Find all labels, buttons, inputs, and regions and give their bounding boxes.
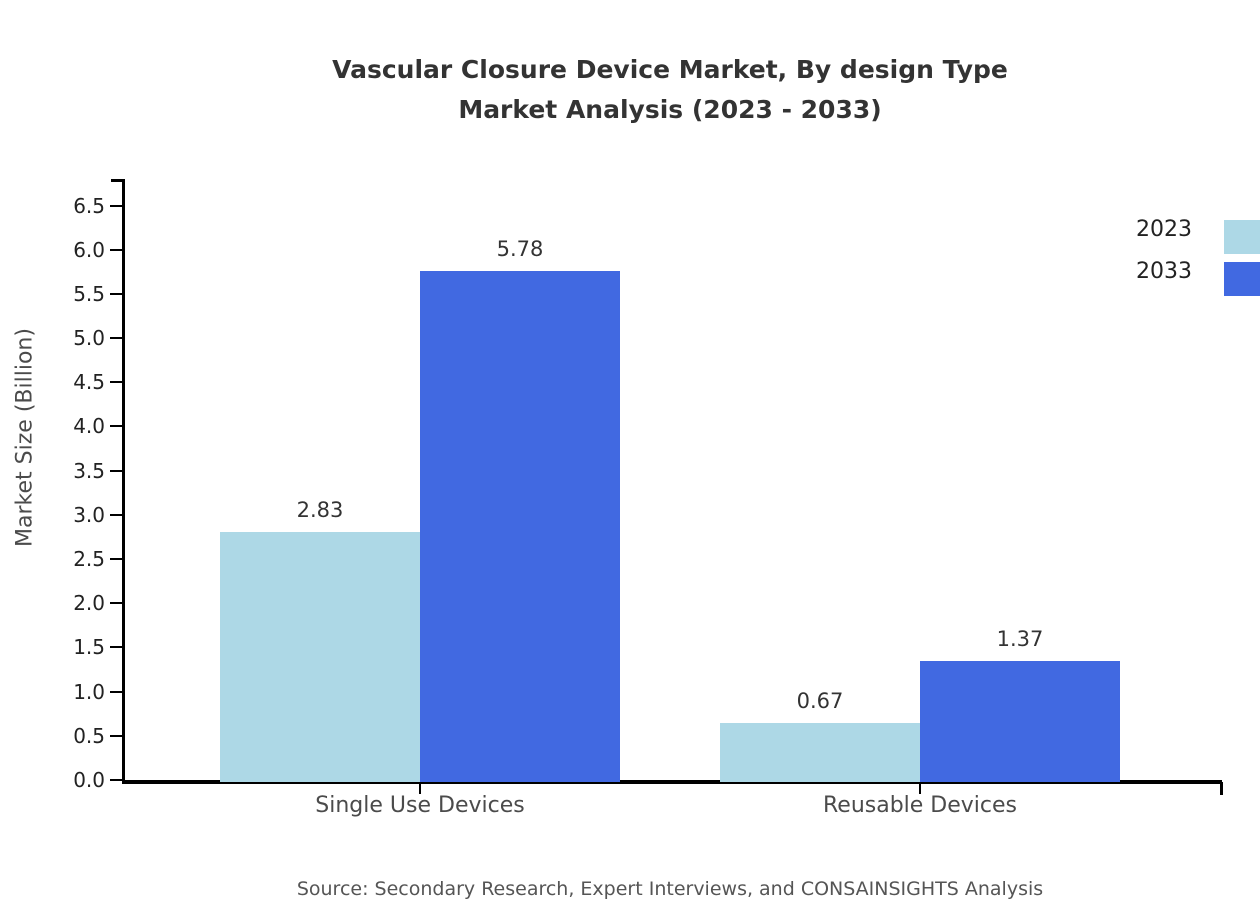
legend-swatch [1224,220,1260,254]
y-tick-label: 3.0 [73,503,105,527]
legend-swatch [1224,262,1260,296]
x-tick-label: Single Use Devices [315,793,524,818]
y-tick-label: 4.0 [73,414,105,438]
legend-label: 2033 [1136,259,1192,284]
plot-area [122,179,1222,782]
y-axis-title: Market Size (Billion) [13,208,38,668]
x-tick-label: Reusable Devices [823,793,1017,818]
y-tick-label: 5.5 [73,282,105,306]
bar-value-label: 5.78 [497,237,544,261]
bar-2033-single-use-devices[interactable] [420,271,620,782]
legend-item-2033[interactable]: 2033 [1100,257,1260,299]
bar-2033-reusable-devices[interactable] [920,661,1120,782]
legend-label: 2023 [1136,217,1192,242]
legend-item-2023[interactable]: 2023 [1100,215,1260,257]
x-axis-end-tick [1220,782,1223,795]
source-note: Source: Secondary Research, Expert Inter… [0,878,1260,900]
bar-2023-reusable-devices[interactable] [720,723,920,782]
page-title: Vascular Closure Device Market, By desig… [0,50,1260,130]
y-tick-label: 0.0 [73,768,105,792]
y-tick-label: 4.5 [73,370,105,394]
y-tick-label: 2.5 [73,547,105,571]
y-tick-label: 3.5 [73,459,105,483]
bar-value-label: 2.83 [297,498,344,522]
bar-2023-single-use-devices[interactable] [220,532,420,782]
y-tick-label: 2.0 [73,591,105,615]
bar-value-label: 0.67 [797,689,844,713]
chart-legend: 20232033 [1100,215,1260,299]
y-tick-label: 1.0 [73,680,105,704]
bar-value-label: 1.37 [997,627,1044,651]
y-tick-label: 6.5 [73,194,105,218]
y-tick-label: 0.5 [73,724,105,748]
chart-page: Vascular Closure Device Market, By desig… [0,0,1260,920]
y-tick-label: 1.5 [73,635,105,659]
y-tick-label: 5.0 [73,326,105,350]
y-tick-label: 6.0 [73,238,105,262]
